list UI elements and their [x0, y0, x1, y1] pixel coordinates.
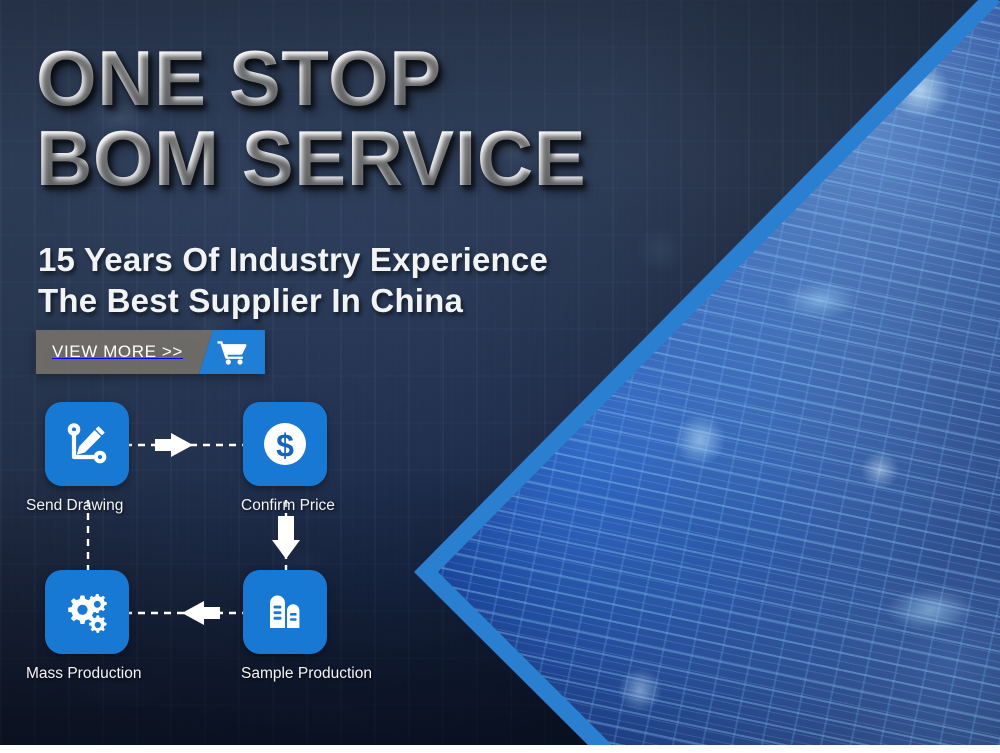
confirm-price-icon-box[interactable]: $	[243, 402, 327, 486]
process-flow: Send Drawing $ Confirm Price	[0, 0, 1000, 753]
bottom-white-strip	[0, 745, 1000, 753]
promo-banner: ONE STOP BOM SERVICE 15 Years Of Industr…	[0, 0, 1000, 753]
sample-production-label: Sample Production	[241, 665, 325, 683]
process-step-send-drawing[interactable]: Send Drawing	[45, 402, 129, 515]
factory-building-icon	[261, 588, 309, 636]
process-step-mass-production[interactable]: Mass Production	[45, 570, 141, 683]
process-step-confirm-price[interactable]: $ Confirm Price	[243, 402, 327, 515]
confirm-price-label: Confirm Price	[241, 497, 325, 515]
connector-sample-to-mass	[125, 593, 250, 633]
connector-send-to-price	[125, 425, 250, 465]
pen-path-icon	[63, 420, 111, 468]
mass-production-label: Mass Production	[26, 665, 141, 683]
gears-icon	[62, 587, 112, 637]
send-drawing-icon-box[interactable]	[45, 402, 129, 486]
banner-content: ONE STOP BOM SERVICE 15 Years Of Industr…	[0, 0, 1000, 753]
send-drawing-label: Send Drawing	[26, 497, 129, 515]
sample-production-icon-box[interactable]	[243, 570, 327, 654]
mass-production-icon-box[interactable]	[45, 570, 129, 654]
dollar-coin-icon: $	[260, 419, 310, 469]
process-step-sample-production[interactable]: Sample Production	[243, 570, 327, 683]
svg-text:$: $	[276, 428, 294, 464]
